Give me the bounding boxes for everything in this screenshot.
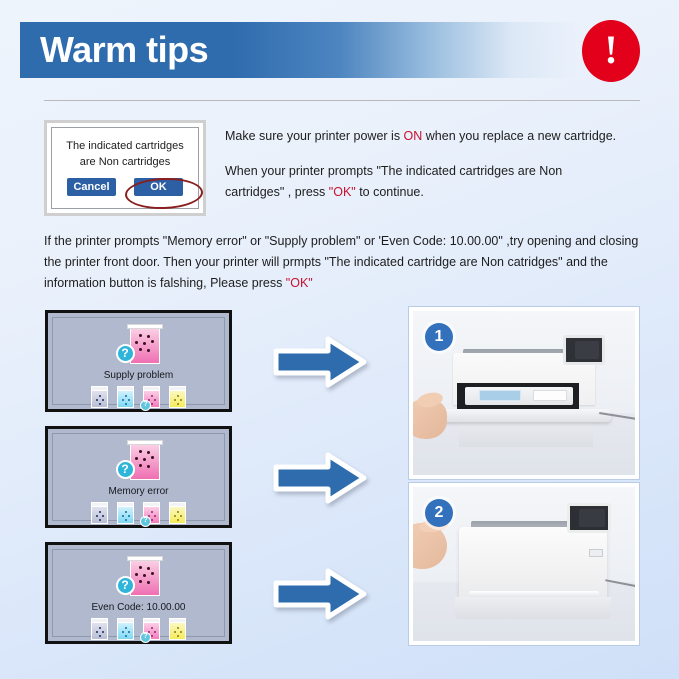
printer-control-panel — [567, 503, 611, 533]
cartridge-black — [91, 386, 108, 408]
printer-paper-tray — [455, 597, 611, 619]
ink-cartridge-warning-icon: ? — [116, 324, 162, 368]
hand — [409, 399, 447, 439]
right-arrow-icon — [272, 567, 368, 621]
instruction-paragraph-2: When your printer prompts "The indicated… — [225, 161, 605, 203]
printer-front-door-open — [437, 409, 611, 422]
question-badge-icon: ? — [116, 460, 135, 479]
ink-dots — [135, 566, 157, 588]
cartridge-yellow — [169, 618, 186, 640]
warm-tips-page: Warm tips ! The indicated cartridges are… — [0, 0, 679, 679]
p1-text-before: Make sure your printer power is — [225, 129, 404, 143]
printer-control-panel — [563, 335, 605, 365]
exclamation-glyph: ! — [604, 30, 617, 70]
cartridge-cyan — [117, 386, 134, 408]
screen-inner-frame: ? Even Code: 10.00.00 ? — [52, 549, 225, 637]
cartridge-yellow — [169, 502, 186, 524]
bottle-cap-shape — [127, 440, 163, 445]
ink-dots — [135, 450, 157, 472]
hand — [409, 523, 447, 569]
p2-text-after: to continue. — [356, 185, 424, 199]
printer-photo-step-1: 1 — [409, 307, 639, 479]
screen-status-label: Supply problem — [53, 370, 224, 381]
cartridge-status-row: ? — [53, 502, 224, 524]
screen-status-label: Memory error — [53, 486, 224, 497]
p1-highlight: ON — [404, 129, 423, 143]
cartridge-black — [91, 618, 108, 640]
printer-toner-cartridge — [465, 387, 573, 405]
printer-paper-tray — [459, 419, 593, 447]
dialog-message-line-2: are Non cartridges — [58, 154, 192, 170]
p3-highlight: "OK" — [286, 276, 313, 290]
ink-cartridge-warning-icon: ? — [116, 556, 162, 600]
instruction-paragraph-1: Make sure your printer power is ON when … — [225, 126, 650, 147]
step-badge-2: 2 — [425, 499, 453, 527]
right-arrow-icon — [272, 451, 368, 505]
cartridge-magenta: ? — [143, 502, 160, 524]
screen-status-label: Even Code: 10.00.00 — [53, 602, 224, 613]
printer-screen-even-code: ? Even Code: 10.00.00 ? — [45, 542, 232, 644]
cartridge-cyan — [117, 618, 134, 640]
bottle-cap-shape — [127, 324, 163, 329]
question-badge-icon: ? — [116, 344, 135, 363]
screen-inner-frame: ? Supply problem ? — [52, 317, 225, 405]
cartridge-question-badge-icon: ? — [140, 400, 151, 411]
question-badge-icon: ? — [116, 576, 135, 595]
cartridge-magenta: ? — [143, 386, 160, 408]
exclamation-icon: ! — [582, 20, 640, 82]
bottle-cap-shape — [127, 556, 163, 561]
dialog-message: The indicated cartridges are Non cartrid… — [58, 138, 192, 170]
cartridge-black — [91, 502, 108, 524]
cartridge-question-badge-icon: ? — [140, 516, 151, 527]
page-title: Warm tips — [40, 26, 208, 74]
cartridge-yellow — [169, 386, 186, 408]
p2-highlight: "OK" — [329, 185, 356, 199]
cartridge-question-badge-icon: ? — [140, 632, 151, 643]
printer-screen-supply-problem: ? Supply problem ? — [45, 310, 232, 412]
cartridge-status-row: ? — [53, 618, 224, 640]
screen-inner-frame: ? Memory error ? — [52, 433, 225, 521]
cartridge-cyan — [117, 502, 134, 524]
cartridge-status-row: ? — [53, 386, 224, 408]
p3-text-before: If the printer prompts "Memory error" or… — [44, 234, 638, 290]
ink-dots — [135, 334, 157, 356]
dialog-message-line-1: The indicated cartridges — [58, 138, 192, 154]
printer-side-button — [589, 549, 603, 557]
printer-screen-memory-error: ? Memory error ? — [45, 426, 232, 528]
cancel-button[interactable]: Cancel — [67, 178, 116, 196]
header-divider — [44, 100, 640, 101]
instruction-paragraph-3: If the printer prompts "Memory error" or… — [44, 231, 639, 294]
step-badge-1: 1 — [425, 323, 453, 351]
printer-photo-step-2: 2 — [409, 483, 639, 645]
ink-cartridge-warning-icon: ? — [116, 440, 162, 484]
right-arrow-icon — [272, 335, 368, 389]
p1-text-after: when you replace a new cartridge. — [422, 129, 616, 143]
cartridge-magenta: ? — [143, 618, 160, 640]
